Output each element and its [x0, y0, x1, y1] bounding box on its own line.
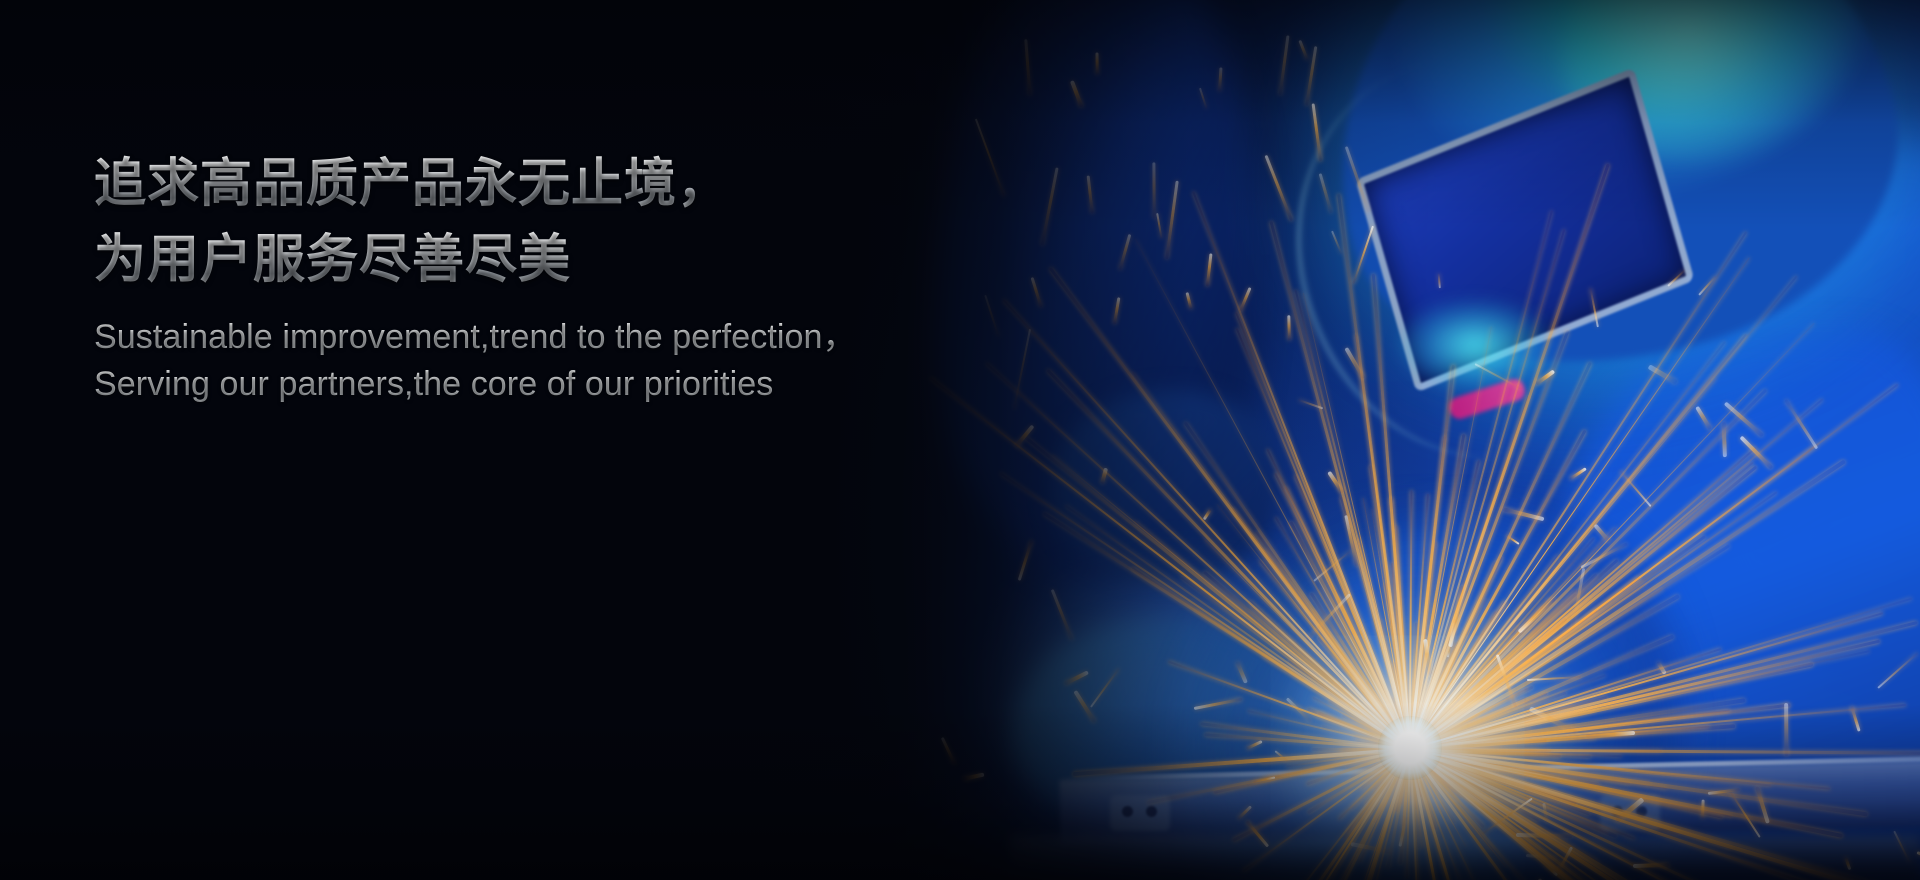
hero-photo: [0, 0, 1920, 880]
photo-vignette: [0, 0, 1920, 880]
hero-copy: 追求高品质产品永无止境， 为用户服务尽善尽美 Sustainable impro…: [94, 146, 994, 408]
hero-banner: 追求高品质产品永无止境， 为用户服务尽善尽美 Sustainable impro…: [0, 0, 1920, 880]
subhead-en-line-2: Serving our partners,the core of our pri…: [94, 361, 994, 408]
subhead-en-line-1: Sustainable improvement,trend to the per…: [94, 314, 994, 361]
subhead-en: Sustainable improvement,trend to the per…: [94, 314, 994, 408]
headline-cn-line-2: 为用户服务尽善尽美: [94, 222, 994, 298]
headline-cn-line-1: 追求高品质产品永无止境，: [94, 146, 994, 222]
